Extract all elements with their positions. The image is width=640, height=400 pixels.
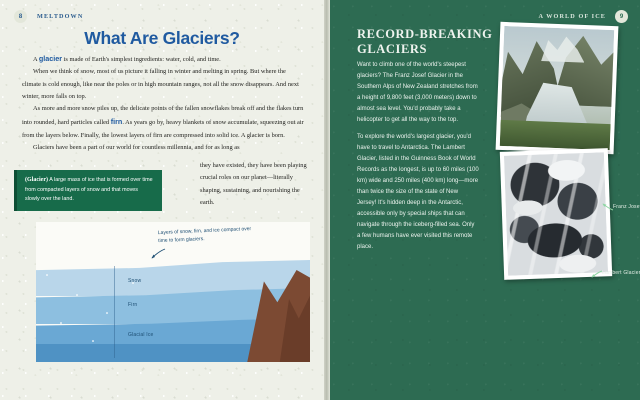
- keyword-firn: firn: [111, 117, 123, 126]
- glacier-formation-diagram: Layers of snow, firn, and ice compact ov…: [36, 222, 310, 362]
- diagram-label-snow: Snow: [128, 278, 141, 284]
- paragraph-1: A glacier is made of Earth's simplest in…: [22, 52, 306, 66]
- paragraph-4-wrap: they have existed, they have been playin…: [200, 160, 310, 209]
- left-page-header: 8 MELTDOWN: [14, 10, 83, 23]
- photo-valley-floor: [500, 119, 611, 150]
- sidebar-paragraph-2: To explore the world's largest glacier, …: [357, 132, 479, 252]
- caption-franz-josef-glacier: Franz Josef Glacier: [613, 204, 640, 210]
- photo-lambert-image: [504, 152, 608, 275]
- photo-lambert-glacier: [500, 148, 612, 280]
- sidebar-body: Want to climb one of the world's steepes…: [357, 60, 479, 252]
- definition-term: (Glacier): [25, 177, 48, 183]
- diagram-speck: [92, 340, 94, 342]
- paragraph-2: When we think of snow, most of us pictur…: [22, 66, 306, 103]
- photo-franz-josef-image: [500, 26, 615, 150]
- running-head-left: MELTDOWN: [37, 13, 83, 20]
- right-page-header: A WORLD OF ICE 9: [539, 10, 629, 23]
- page-title: What Are Glaciers?: [0, 28, 324, 49]
- paragraph-1-rest: is made of Earth's simplest ingredients:…: [62, 56, 221, 63]
- diagram-speck: [46, 274, 48, 276]
- diagram-label-firn: Firn: [128, 302, 137, 308]
- photo-franz-josef-glacier: [496, 22, 619, 154]
- diagram-label-glacial-ice: Glacial Ice: [128, 332, 154, 338]
- diagram-speck: [60, 322, 62, 324]
- book-spread: 8 MELTDOWN What Are Glaciers? A glacier …: [0, 0, 640, 400]
- diagram-speck: [76, 294, 78, 296]
- diagram-speck: [106, 312, 108, 314]
- sidebar-title: RECORD-BREAKING GLACIERS: [357, 27, 497, 57]
- annotation-arrow-icon: [150, 248, 166, 260]
- caption-lambert-glacier: Lambert Glacier: [602, 270, 640, 276]
- left-page: 8 MELTDOWN What Are Glaciers? A glacier …: [0, 0, 324, 400]
- diagram-guide-line: [114, 266, 115, 358]
- page-number-badge-right: 9: [615, 10, 628, 23]
- right-page: A WORLD OF ICE 9 RECORD-BREAKING GLACIER…: [330, 0, 640, 400]
- satellite-bright-ice: [504, 152, 608, 275]
- definition-callout-box: (Glacier) A large mass of ice that is fo…: [14, 170, 162, 211]
- running-head-right: A WORLD OF ICE: [539, 13, 607, 20]
- body-text-column: A glacier is made of Earth's simplest in…: [22, 52, 306, 154]
- paragraph-4-lead: Glaciers have been a part of our world f…: [22, 142, 306, 154]
- keyword-glacier: glacier: [39, 54, 62, 63]
- paragraph-3: As more and more snow piles up, the deli…: [22, 103, 306, 142]
- page-number-badge: 8: [14, 10, 27, 23]
- sidebar-paragraph-1: Want to climb one of the world's steepes…: [357, 60, 479, 125]
